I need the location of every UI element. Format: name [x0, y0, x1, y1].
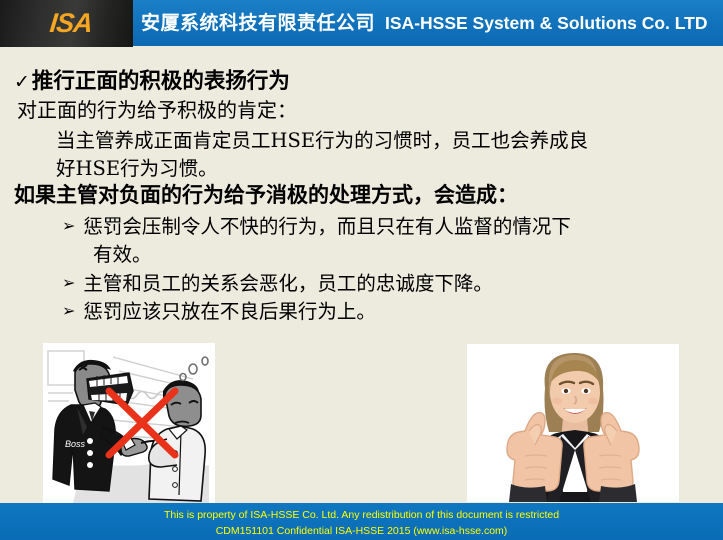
bullet-item-2: ➢主管和员工的关系会恶化，员工的忠诚度下降。 [62, 267, 493, 296]
angry-boss-cartoon-image: Boss [43, 343, 215, 503]
heading-positive-behavior-text: 推行正面的积极的表扬行为 [32, 69, 290, 94]
isa-logo: ISA [28, 8, 114, 38]
header-blue-panel: 安厦系统科技有限责任公司ISA-HSSE System & Solutions … [133, 0, 723, 46]
heading-negative-consequences: 如果主管对负面的行为给予消极的处理方式，会造成： [14, 179, 518, 209]
check-icon: ✓ [14, 71, 30, 93]
bullet-item-1-text: 惩罚会压制令人不快的行为，而且只在有人监督的情况下 [83, 215, 571, 238]
paragraph-line-1: 当主管养成正面肯定员工HSE行为的习惯时，员工也会养成良 [56, 124, 588, 153]
bullet-item-2-text: 主管和员工的关系会恶化，员工的忠诚度下降。 [83, 272, 493, 295]
subline-affirm-positive: 对正面的行为给予积极的肯定： [17, 94, 297, 123]
slide-header: 安厦系统科技有限责任公司ISA-HSSE System & Solutions … [0, 0, 723, 47]
businesswoman-thumbs-up-image [467, 344, 679, 502]
slide: 安厦系统科技有限责任公司ISA-HSSE System & Solutions … [0, 0, 723, 540]
header-title-en: ISA-HSSE System & Solutions Co. LTD [385, 13, 708, 33]
svg-text:Boss: Boss [65, 439, 86, 449]
bullet-item-1-continuation: 有效。 [93, 238, 152, 267]
heading-positive-behavior: ✓推行正面的积极的表扬行为 [14, 64, 290, 95]
bullet-item-1: ➢惩罚会压制令人不快的行为，而且只在有人监督的情况下 [62, 210, 571, 239]
bullet-item-3-text: 惩罚应该只放在不良后果行为上。 [83, 300, 376, 323]
footer-line-2: CDM151101 Confidential ISA-HSSE 2015 (ww… [0, 523, 723, 539]
arrow-bullet-icon: ➢ [62, 273, 75, 292]
isa-logo-text: ISA [26, 8, 115, 38]
header-title-cn: 安厦系统科技有限责任公司 [141, 12, 375, 34]
header-title: 安厦系统科技有限责任公司ISA-HSSE System & Solutions … [141, 9, 708, 37]
arrow-bullet-icon: ➢ [62, 216, 75, 235]
footer-line-1: This is property of ISA-HSSE Co. Ltd. An… [0, 503, 723, 523]
businesswoman-thumbs-up-svg [467, 344, 679, 502]
angry-boss-cartoon-svg: Boss [43, 343, 215, 503]
arrow-bullet-icon: ➢ [62, 301, 75, 320]
bullet-item-3: ➢惩罚应该只放在不良后果行为上。 [62, 295, 376, 324]
slide-footer: This is property of ISA-HSSE Co. Ltd. An… [0, 503, 723, 540]
paragraph-line-2: 好HSE行为习惯。 [56, 152, 218, 181]
